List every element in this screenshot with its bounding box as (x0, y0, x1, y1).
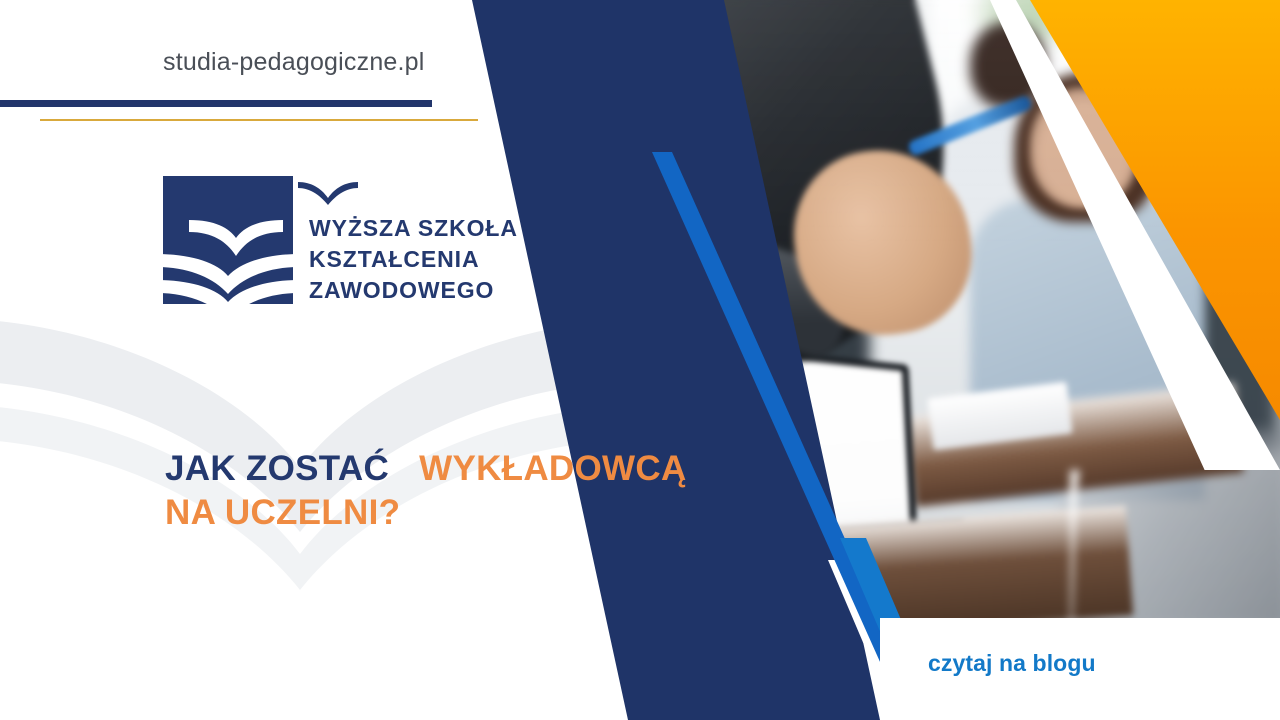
logo-wordmark: WYŻSZA SZKOŁA KSZTAŁCENIA ZAWODOWEGO (309, 213, 518, 306)
logo-line-3: ZAWODOWEGO (309, 275, 518, 306)
site-url: studia-pedagogiczne.pl (163, 48, 425, 77)
logo-line-2: KSZTAŁCENIA (309, 244, 518, 275)
headline-line-1: JAK ZOSTAĆ WYKŁADOWCĄ (165, 447, 687, 491)
logo-line-1: WYŻSZA SZKOŁA (309, 213, 518, 244)
open-book-logo-mark (163, 176, 293, 304)
headline-part-1: JAK ZOSTAĆ (165, 449, 389, 488)
gold-rule (40, 119, 478, 121)
headline-part-2: WYKŁADOWCĄ (419, 449, 686, 488)
chevron-swoosh-icon (297, 179, 359, 205)
read-on-blog-cta[interactable]: czytaj na blogu (928, 650, 1096, 677)
navy-rule (0, 100, 432, 107)
university-logo: WYŻSZA SZKOŁA KSZTAŁCENIA ZAWODOWEGO (163, 176, 583, 306)
banner-canvas: czytaj na blogu studia-pedagogiczne.pl W… (0, 0, 1280, 720)
headline: JAK ZOSTAĆ WYKŁADOWCĄ NA UCZELNI? (165, 447, 687, 535)
headline-line-2: NA UCZELNI? (165, 491, 687, 535)
